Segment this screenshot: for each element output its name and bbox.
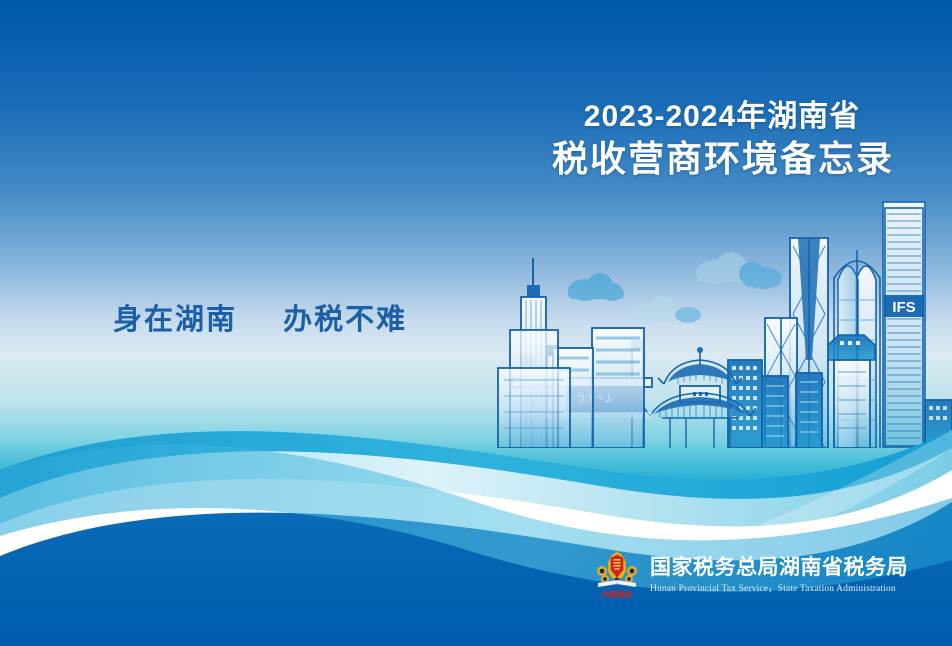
emblem-caption-text: 中国税务 (602, 589, 632, 599)
slogan-part-2: 办税不难 (283, 304, 407, 336)
footer-logo-block: 中国税务 国家税务总局湖南省税务局 Hunan Provincial Tax S… (593, 549, 908, 601)
title-line-1: 2023-2024年湖南省 (552, 98, 892, 136)
organization-text-block: 国家税务总局湖南省税务局 Hunan Provincial Tax Servic… (650, 554, 908, 596)
organization-name-en: Hunan Provincial Tax Service，State Taxat… (650, 583, 908, 596)
slogan-part-1: 身在湖南 (113, 304, 237, 336)
state-taxation-administration-emblem: 中国税务 (593, 549, 641, 601)
cover-title-block: 2023-2024年湖南省 税收营商环境备忘录 (552, 98, 892, 182)
cover-slogan: 身在湖南 办税不难 (113, 296, 407, 338)
title-line-2: 税收营商环境备忘录 (552, 136, 892, 182)
organization-name-cn: 国家税务总局湖南省税务局 (650, 556, 908, 580)
cover-page: IFS (0, 0, 952, 646)
